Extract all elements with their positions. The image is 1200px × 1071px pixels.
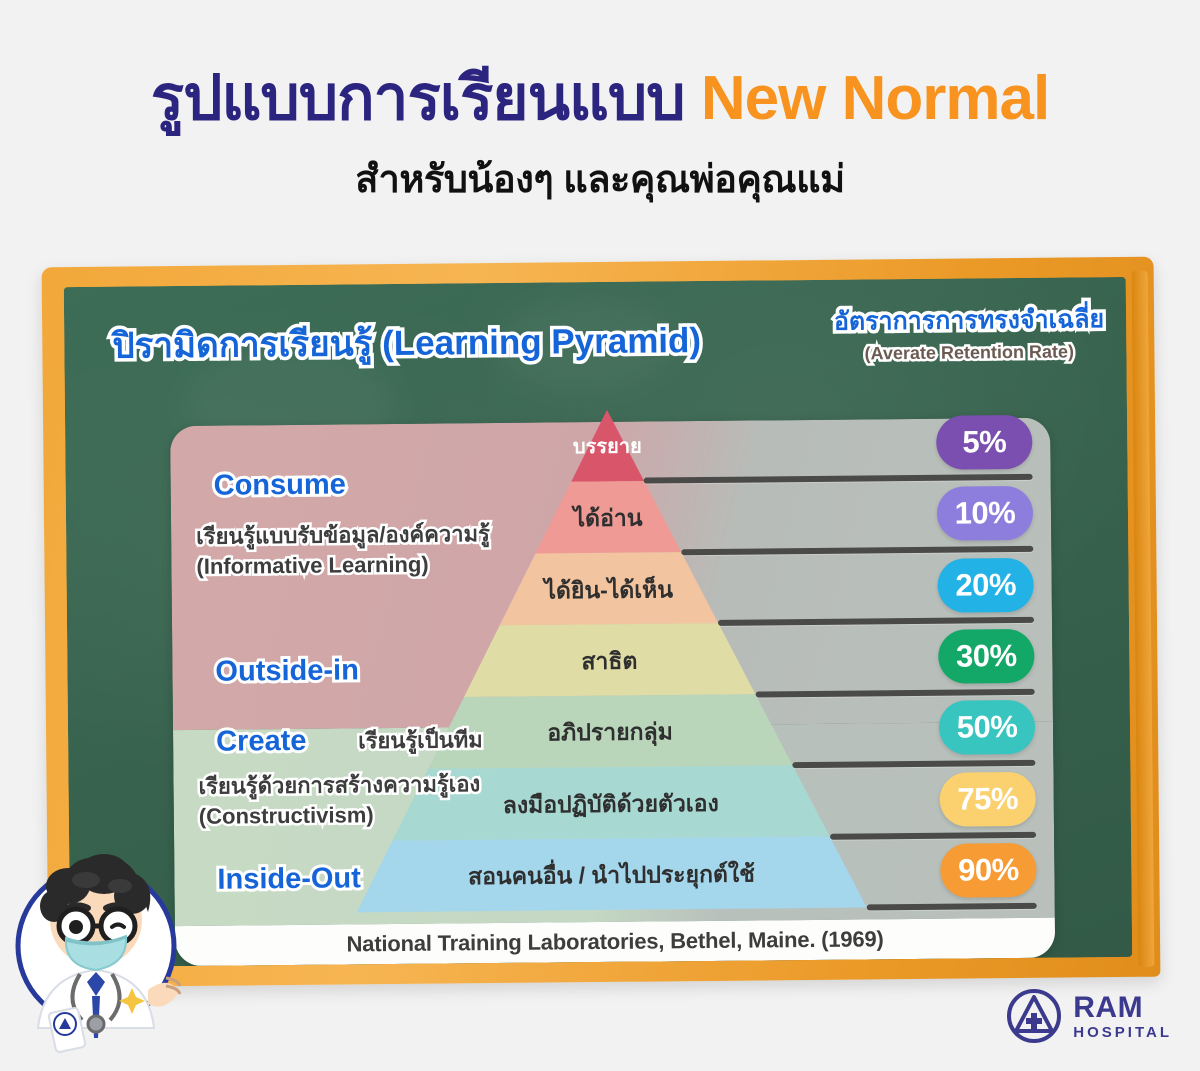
learning-mode-heading: Inside-Out bbox=[217, 862, 361, 896]
ram-emblem-icon bbox=[1005, 987, 1063, 1045]
page-title-english: New Normal bbox=[701, 64, 1049, 133]
learning-mode-description: เรียนรู้แบบรับข้อมูล/องค์ความรู้ bbox=[196, 521, 490, 550]
chalkboard: ปิรามิดการเรียนรู้ (Learning Pyramid) อั… bbox=[42, 257, 1161, 988]
learning-mode-description: (Constructivism) bbox=[199, 802, 374, 830]
page-title-thai: รูปแบบการเรียนแบบ bbox=[151, 64, 701, 133]
ram-logo-subtitle: HOSPITAL bbox=[1073, 1025, 1172, 1040]
ram-logo-name: RAM bbox=[1073, 993, 1172, 1023]
retention-pill: 20% bbox=[937, 557, 1034, 612]
page-title: รูปแบบการเรียนแบบ New Normal bbox=[0, 68, 1200, 130]
learning-mode-heading: Consume bbox=[214, 468, 346, 502]
page-subtitle: สำหรับน้องๆ และคุณพ่อคุณแม่ bbox=[0, 148, 1200, 209]
retention-pill: 10% bbox=[937, 486, 1034, 541]
learning-mode-heading: Create bbox=[216, 725, 307, 759]
retention-heading-thai: อัตราการการทรงจำเฉลี่ย bbox=[834, 299, 1105, 342]
ram-hospital-logo: RAM HOSPITAL bbox=[1005, 987, 1172, 1045]
source-citation: National Training Laboratories, Bethel, … bbox=[175, 918, 1055, 966]
learning-mode-heading: Outside-in bbox=[215, 654, 359, 688]
retention-heading: อัตราการการทรงจำเฉลี่ย (Averate Retentio… bbox=[834, 299, 1105, 365]
learning-mode-description: (Informative Learning) bbox=[196, 552, 428, 580]
retention-pill: 30% bbox=[938, 629, 1035, 684]
board-title: ปิรามิดการเรียนรู้ (Learning Pyramid) bbox=[112, 313, 701, 374]
retention-pill: 5% bbox=[936, 415, 1033, 470]
ram-logo-text: RAM HOSPITAL bbox=[1073, 993, 1172, 1040]
doctor-mascot-icon bbox=[8, 828, 188, 1058]
page-title-block: รูปแบบการเรียนแบบ New Normal สำหรับน้องๆ… bbox=[0, 68, 1200, 209]
retention-pill: 50% bbox=[939, 700, 1036, 755]
learning-mode-inline-note: เรียนรู้เป็นทีม bbox=[358, 727, 483, 754]
chalkboard-surface: ปิรามิดการเรียนรู้ (Learning Pyramid) อั… bbox=[64, 277, 1132, 967]
panel-source-strip: National Training Laboratories, Bethel, … bbox=[175, 918, 1055, 966]
retention-pill: 75% bbox=[939, 772, 1036, 827]
retention-pill: 90% bbox=[940, 843, 1037, 898]
learning-mode-description: เรียนรู้ด้วยการสร้างความรู้เอง bbox=[198, 771, 480, 800]
retention-heading-english: (Averate Retention Rate) bbox=[834, 341, 1104, 365]
